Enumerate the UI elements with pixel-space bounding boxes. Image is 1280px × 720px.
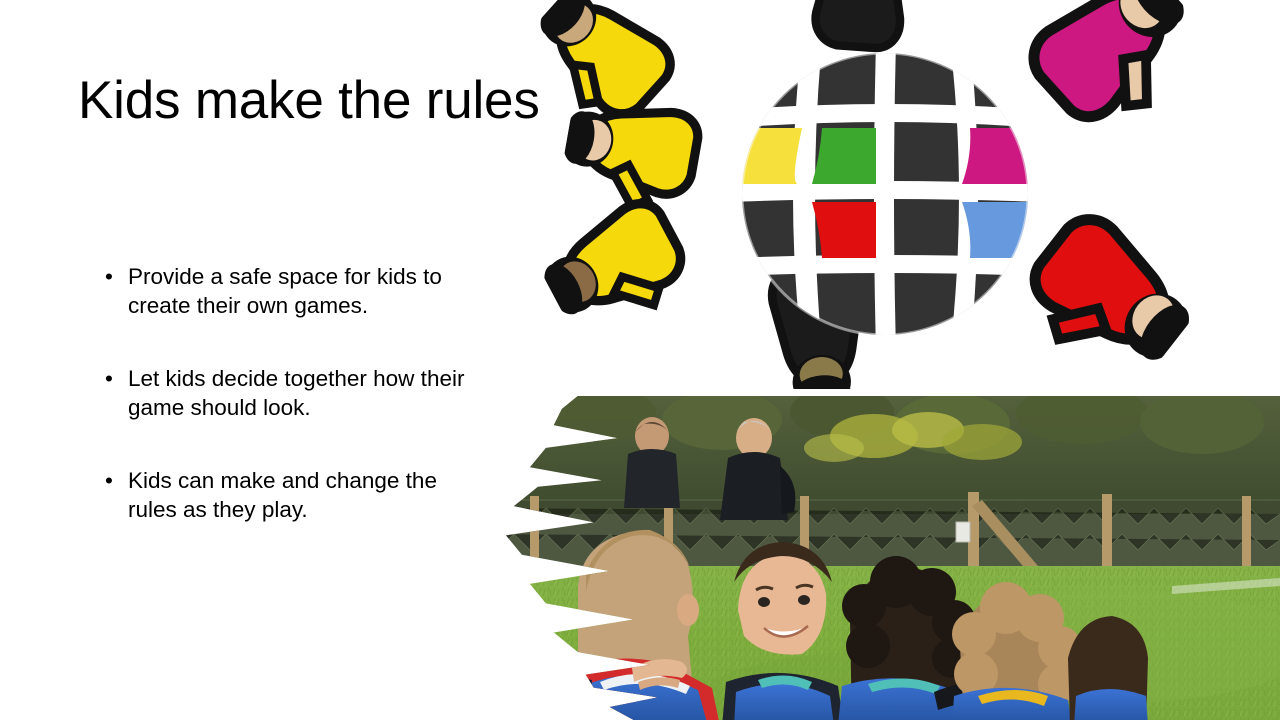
children-around-globe-clipart: [490, 0, 1280, 389]
presentation-slide: Kids make the rules • Provide a safe spa…: [0, 0, 1280, 720]
list-item-text: Let kids decide together how their game …: [128, 364, 490, 422]
list-item-text: Provide a safe space for kids to create …: [128, 262, 490, 320]
bullet-marker-icon: •: [105, 262, 113, 291]
bullet-marker-icon: •: [105, 466, 113, 495]
page-title: Kids make the rules: [78, 71, 540, 131]
list-item: • Let kids decide together how their gam…: [100, 364, 490, 422]
clipart-stage: [490, 0, 1280, 389]
bullet-marker-icon: •: [105, 364, 113, 393]
globe-icon: [740, 52, 1030, 337]
list-item: • Provide a safe space for kids to creat…: [100, 262, 490, 320]
list-item-text: Kids can make and change the rules as th…: [128, 466, 490, 524]
bullet-list: • Provide a safe space for kids to creat…: [100, 262, 490, 524]
list-item: • Kids can make and change the rules as …: [100, 466, 490, 524]
kids-team-huddle-photo: [482, 396, 1280, 720]
photo-torn-edge-mask: [482, 396, 1280, 720]
